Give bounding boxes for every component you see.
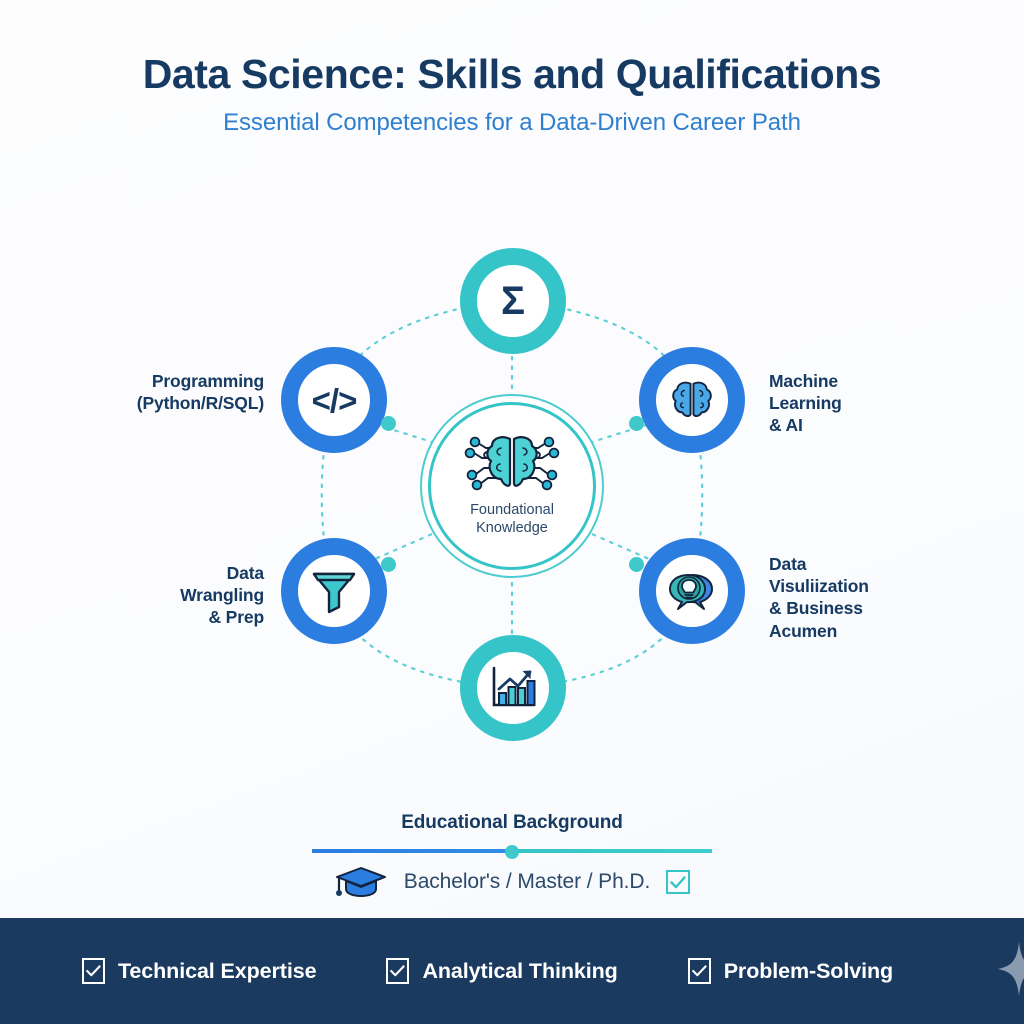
footer-item-analytical-thinking[interactable]: Analytical Thinking — [386, 958, 617, 984]
label-line: & Prep — [66, 606, 264, 628]
checkbox-checked-icon[interactable] — [666, 870, 690, 894]
code-brackets-icon: </> — [312, 384, 357, 417]
funnel-icon — [309, 567, 359, 615]
footer-item-problem-solving[interactable]: Problem-Solving — [688, 958, 893, 984]
educational-background-section: Educational Background Bachelor's / Mast… — [0, 812, 1024, 899]
check-mark — [86, 965, 101, 977]
footer-bar: Technical Expertise Analytical Thinking … — [0, 918, 1024, 1024]
label-line: Learning — [769, 392, 969, 414]
label-line: Programming — [66, 370, 264, 392]
node-data-visualization[interactable] — [639, 538, 745, 644]
brain-circuit-icon — [456, 434, 568, 496]
label-line: & AI — [769, 414, 969, 436]
footer-item-label: Technical Expertise — [118, 959, 316, 984]
label-line: Acumen — [769, 620, 974, 642]
sigma-icon: Σ — [501, 281, 525, 321]
skills-hub-diagram: Σ </> Programming (Python/R/SQL) — [0, 190, 1024, 790]
footer-item-label: Problem-Solving — [724, 959, 893, 984]
node-programming[interactable]: </> — [281, 347, 387, 453]
hub-label-line: Knowledge — [470, 520, 554, 538]
node-machine-learning-label: Machine Learning & AI — [769, 370, 969, 437]
node-data-visualization-label: Data Visuliization & Business Acumen — [769, 553, 974, 642]
label-line: Wrangling — [66, 584, 264, 606]
check-mark — [390, 965, 405, 977]
connector-dot — [629, 416, 644, 431]
check-mark — [692, 965, 707, 977]
checkbox-checked-icon[interactable] — [82, 958, 105, 984]
sparkle-icon — [997, 941, 1024, 1002]
page-subtitle: Essential Competencies for a Data-Driven… — [0, 109, 1024, 137]
checkbox-checked-icon[interactable] — [386, 958, 409, 984]
check-mark — [670, 876, 686, 889]
checkbox-checked-icon[interactable] — [688, 958, 711, 984]
footer-item-technical-expertise[interactable]: Technical Expertise — [82, 958, 316, 984]
footer-items: Technical Expertise Analytical Thinking … — [82, 941, 1024, 1002]
node-machine-learning[interactable] — [639, 347, 745, 453]
infographic-canvas: Data Science: Skills and Qualifications … — [0, 0, 1024, 1024]
label-line: Machine — [769, 370, 969, 392]
label-line: (Python/R/SQL) — [66, 392, 264, 414]
divider-left-segment — [312, 849, 512, 853]
label-line: & Business — [769, 597, 974, 619]
connector-dot — [629, 557, 644, 572]
connector-dot — [381, 416, 396, 431]
divider-center-dot — [505, 845, 519, 859]
node-data-wrangling-label: Data Wrangling & Prep — [66, 562, 264, 629]
footer-item-label: Analytical Thinking — [422, 959, 617, 984]
label-line: Data — [769, 553, 974, 575]
node-programming-label: Programming (Python/R/SQL) — [66, 370, 264, 414]
connector-dot — [381, 557, 396, 572]
node-analytics-growth[interactable] — [460, 635, 566, 741]
label-line: Visuliization — [769, 575, 974, 597]
node-statistics[interactable]: Σ — [460, 248, 566, 354]
education-divider — [312, 845, 712, 857]
bar-chart-growth-icon — [487, 664, 539, 712]
label-line: Data — [66, 562, 264, 584]
hub-foundational-knowledge[interactable]: Foundational Knowledge — [428, 402, 596, 570]
divider-right-segment — [512, 849, 712, 853]
graduation-cap-icon — [334, 865, 388, 899]
page-title: Data Science: Skills and Qualifications — [0, 52, 1024, 97]
hub-label-line: Foundational — [470, 502, 554, 520]
hub-label: Foundational Knowledge — [470, 502, 554, 537]
brain-icon — [669, 378, 715, 422]
lightbulb-speech-bubble-icon — [666, 567, 718, 615]
education-degrees-text: Bachelor's / Master / Ph.D. — [404, 870, 650, 894]
node-data-wrangling[interactable] — [281, 538, 387, 644]
education-degrees-row: Bachelor's / Master / Ph.D. — [0, 865, 1024, 899]
educational-background-title: Educational Background — [0, 812, 1024, 834]
header: Data Science: Skills and Qualifications … — [0, 52, 1024, 137]
